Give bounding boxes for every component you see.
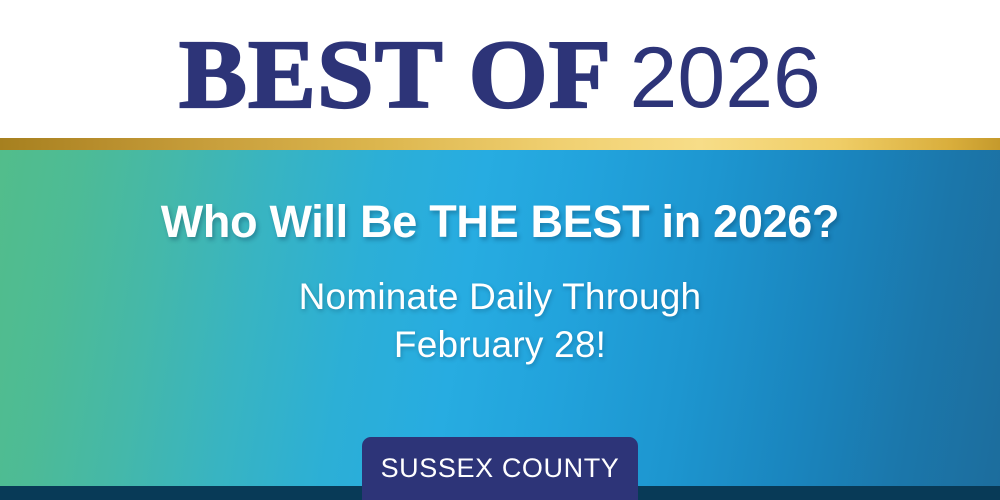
hero-subheadline-line-2: February 28! [299,321,702,368]
sussex-county-button[interactable]: SUSSEX COUNTY [362,437,638,500]
gold-divider-rule [0,138,1000,150]
masthead: BEST OF 2026 [0,0,1000,138]
hero-subheadline-line-1: Nominate Daily Through [299,273,702,320]
best-of-wordmark: BEST OF [179,26,612,124]
hero-headline: Who Will Be THE BEST in 2026? [161,198,839,245]
hero-gradient-panel: Who Will Be THE BEST in 2026? Nominate D… [0,150,1000,486]
sussex-county-button-label: SUSSEX COUNTY [381,453,620,484]
hero-subheadline: Nominate Daily Through February 28! [299,273,702,368]
hero-content: Who Will Be THE BEST in 2026? Nominate D… [0,150,1000,486]
masthead-year: 2026 [630,35,821,121]
masthead-title-group: BEST OF 2026 [179,26,821,124]
best-of-2026-promo-banner: BEST OF 2026 Who Will Be THE BEST in 202… [0,0,1000,500]
